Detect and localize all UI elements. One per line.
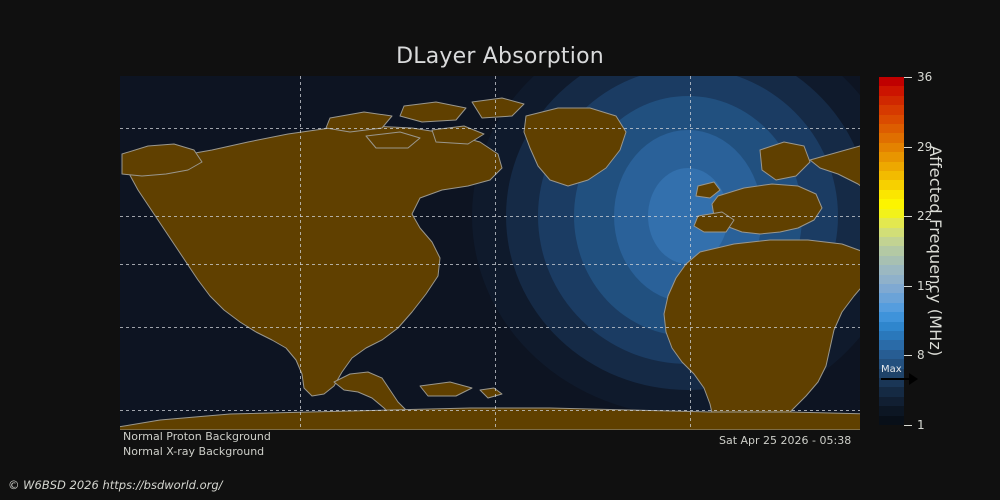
- colorbar-swatch-29: [879, 350, 904, 359]
- colorbar-swatch-31: [879, 369, 904, 378]
- colorbar-swatch-12: [879, 190, 904, 199]
- colorbar-swatch-30: [879, 359, 904, 368]
- colorbar-tick-22: [904, 216, 912, 217]
- colorbar-swatch-10: [879, 171, 904, 180]
- colorbar-swatch-7: [879, 143, 904, 152]
- colorbar-swatch-18: [879, 246, 904, 255]
- colorbar-swatch-14: [879, 209, 904, 218]
- chart-canvas: DLayer Absorption: [0, 0, 1000, 500]
- colorbar-swatch-33: [879, 387, 904, 396]
- colorbar-swatch-16: [879, 228, 904, 237]
- colorbar-swatch-25: [879, 312, 904, 321]
- colorbar-swatch-19: [879, 256, 904, 265]
- colorbar-swatch-6: [879, 133, 904, 142]
- colorbar-gradient: [879, 77, 904, 425]
- map-graphic: [120, 76, 860, 430]
- colorbar-swatch-3: [879, 105, 904, 114]
- colorbar-swatch-4: [879, 115, 904, 124]
- colorbar-swatch-35: [879, 406, 904, 415]
- colorbar-swatch-21: [879, 275, 904, 284]
- colorbar-swatch-11: [879, 180, 904, 189]
- colorbar-swatch-34: [879, 397, 904, 406]
- colorbar-swatch-2: [879, 96, 904, 105]
- proton-background-label: Normal Proton Background: [123, 429, 271, 444]
- colorbar-swatch-0: [879, 77, 904, 86]
- page-title: DLayer Absorption: [0, 44, 1000, 69]
- background-conditions: Normal Proton Background Normal X-ray Ba…: [123, 429, 271, 459]
- colorbar: [879, 77, 904, 425]
- colorbar-swatch-22: [879, 284, 904, 293]
- colorbar-swatch-28: [879, 340, 904, 349]
- colorbar-swatch-20: [879, 265, 904, 274]
- colorbar-swatch-36: [879, 416, 904, 425]
- colorbar-tick-8: [904, 355, 912, 356]
- colorbar-swatch-5: [879, 124, 904, 133]
- colorbar-tick-1: [904, 425, 912, 426]
- world-map: [120, 76, 860, 430]
- colorbar-tick-15: [904, 286, 912, 287]
- colorbar-swatch-27: [879, 331, 904, 340]
- colorbar-swatch-15: [879, 218, 904, 227]
- colorbar-swatch-26: [879, 322, 904, 331]
- colorbar-swatch-32: [879, 378, 904, 387]
- colorbar-swatch-9: [879, 162, 904, 171]
- xray-background-label: Normal X-ray Background: [123, 444, 271, 459]
- colorbar-swatch-8: [879, 152, 904, 161]
- colorbar-swatch-13: [879, 199, 904, 208]
- colorbar-tick-29: [904, 147, 912, 148]
- colorbar-title: Affected Frequency (MHz): [922, 77, 948, 425]
- colorbar-tick-36: [904, 77, 912, 78]
- colorbar-swatch-17: [879, 237, 904, 246]
- copyright-label: © W6BSD 2026 https://bsdworld.org/: [8, 478, 223, 492]
- colorbar-swatch-1: [879, 86, 904, 95]
- colorbar-swatch-24: [879, 303, 904, 312]
- timestamp-label: Sat Apr 25 2026 - 05:38: [719, 434, 851, 447]
- colorbar-swatch-23: [879, 293, 904, 302]
